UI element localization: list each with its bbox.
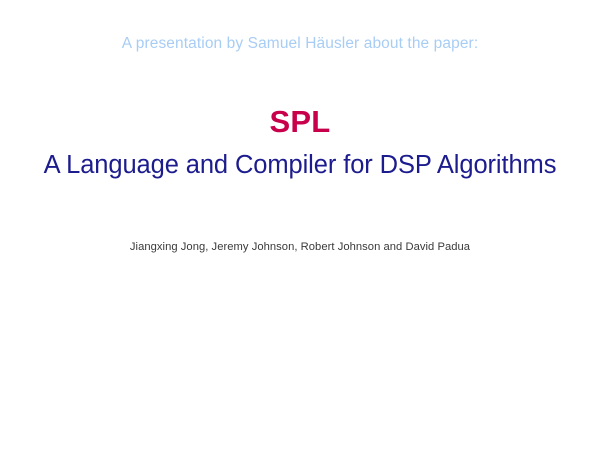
presenter-attribution-line: A presentation by Samuel Häusler about t… [0, 34, 600, 53]
presentation-title-slide: A presentation by Samuel Häusler about t… [0, 0, 600, 450]
title-block: SPL A Language and Compiler for DSP Algo… [0, 104, 600, 180]
page-subtitle: A Language and Compiler for DSP Algorith… [0, 150, 600, 181]
authors-list: Jiangxing Jong, Jeremy Johnson, Robert J… [0, 240, 600, 255]
page-title: SPL [0, 104, 600, 141]
empty-content-area [0, 280, 600, 450]
